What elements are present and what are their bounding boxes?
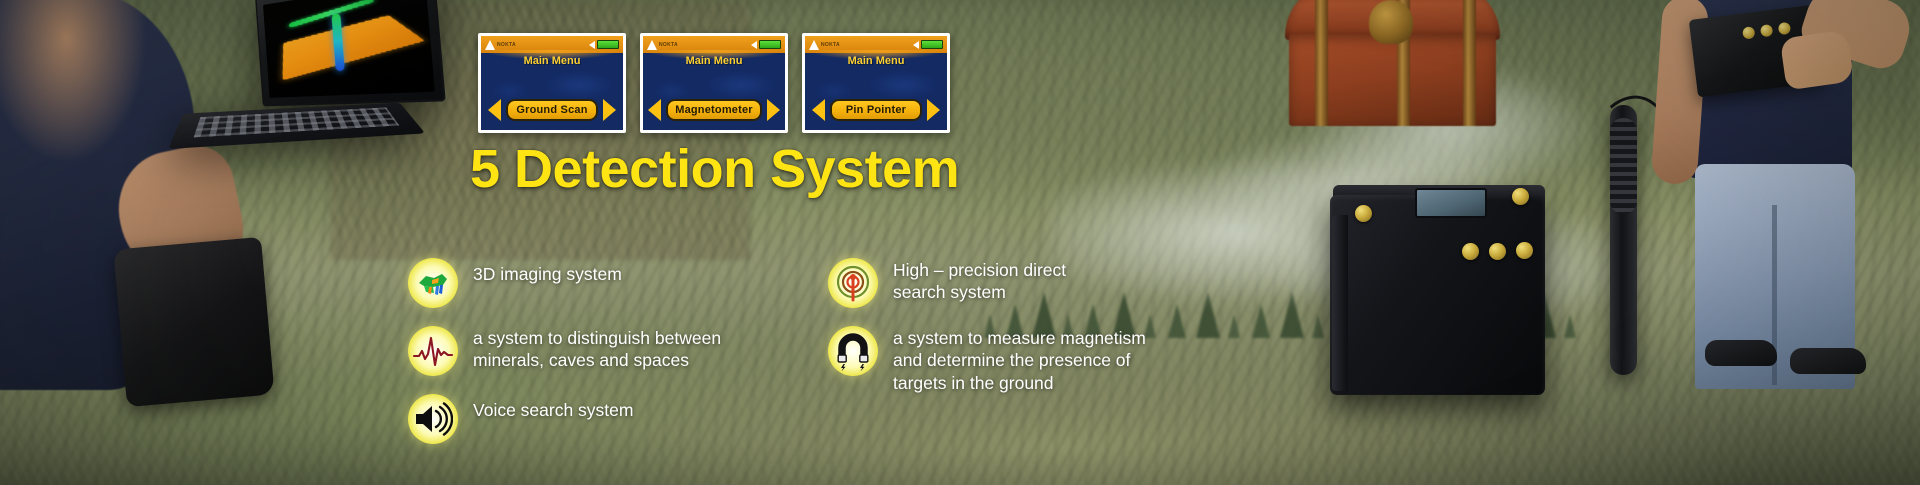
- panel-menu-title: Main Menu: [643, 55, 785, 67]
- feature-list-left: 3D imaging system a system to distinguis…: [408, 258, 828, 462]
- feature-label: Voice search system: [473, 394, 633, 421]
- arrow-left-icon[interactable]: [488, 99, 501, 121]
- speaker-icon: [913, 41, 919, 49]
- panel-header: NOKTA: [805, 36, 947, 53]
- brand-logo: NOKTA: [647, 40, 678, 50]
- vignette-overlay: [0, 0, 1920, 485]
- arrow-right-icon[interactable]: [927, 99, 940, 121]
- mountain-logo-icon: [647, 40, 657, 50]
- panel-menu-title: Main Menu: [481, 55, 623, 67]
- battery-full-icon: [759, 40, 781, 49]
- speaker-icon: [589, 41, 595, 49]
- promo-banner: NOKTA Main Menu Ground Scan NOKTA: [0, 0, 1920, 485]
- speaker-sound-icon: [408, 394, 458, 444]
- mountain-logo-icon: [485, 40, 495, 50]
- feature-list-right: High – precision direct search system a …: [828, 258, 1298, 412]
- device-panel-ground-scan[interactable]: NOKTA Main Menu Ground Scan: [478, 33, 626, 133]
- panel-status-indicators: [589, 40, 619, 49]
- radar-signal-icon: [828, 258, 878, 308]
- feature-item: Voice search system: [408, 394, 828, 444]
- brand-logo: NOKTA: [809, 40, 840, 50]
- brand-name: NOKTA: [497, 42, 516, 48]
- feature-item: 3D imaging system: [408, 258, 828, 308]
- mode-button[interactable]: Magnetometer: [666, 99, 762, 121]
- panel-header: NOKTA: [643, 36, 785, 53]
- mountain-logo-icon: [809, 40, 819, 50]
- feature-label: 3D imaging system: [473, 258, 622, 285]
- brand-name: NOKTA: [659, 42, 678, 48]
- feature-label: High – precision direct search system: [893, 258, 1066, 304]
- panel-mode-selector: Ground Scan: [481, 99, 623, 121]
- mode-button[interactable]: Pin Pointer: [830, 99, 922, 121]
- panel-mode-selector: Magnetometer: [643, 99, 785, 121]
- speaker-icon: [751, 41, 757, 49]
- panel-menu-title: Main Menu: [805, 55, 947, 67]
- brand-name: NOKTA: [821, 42, 840, 48]
- brand-logo: NOKTA: [485, 40, 516, 50]
- panel-mode-selector: Pin Pointer: [805, 99, 947, 121]
- battery-full-icon: [597, 40, 619, 49]
- device-panel-pin-pointer[interactable]: NOKTA Main Menu Pin Pointer: [802, 33, 950, 133]
- arrow-right-icon[interactable]: [603, 99, 616, 121]
- feature-label: a system to distinguish between minerals…: [473, 326, 721, 372]
- feature-item: High – precision direct search system: [828, 258, 1298, 308]
- terrain-3d-icon: [408, 258, 458, 308]
- mode-button[interactable]: Ground Scan: [506, 99, 598, 121]
- feature-label: a system to measure magnetism and determ…: [893, 326, 1146, 394]
- arrow-left-icon[interactable]: [812, 99, 825, 121]
- panel-header: NOKTA: [481, 36, 623, 53]
- magnet-icon: [828, 326, 878, 376]
- feature-item: a system to distinguish between minerals…: [408, 326, 828, 376]
- panel-status-indicators: [751, 40, 781, 49]
- panel-status-indicators: [913, 40, 943, 49]
- headline-title: 5 Detection System: [470, 138, 959, 200]
- feature-item: a system to measure magnetism and determ…: [828, 326, 1298, 394]
- battery-full-icon: [921, 40, 943, 49]
- device-panel-magnetometer[interactable]: NOKTA Main Menu Magnetometer: [640, 33, 788, 133]
- waveform-pulse-icon: [408, 326, 458, 376]
- arrow-left-icon[interactable]: [648, 99, 661, 121]
- arrow-right-icon[interactable]: [767, 99, 780, 121]
- device-screen-panels: NOKTA Main Menu Ground Scan NOKTA: [478, 33, 950, 133]
